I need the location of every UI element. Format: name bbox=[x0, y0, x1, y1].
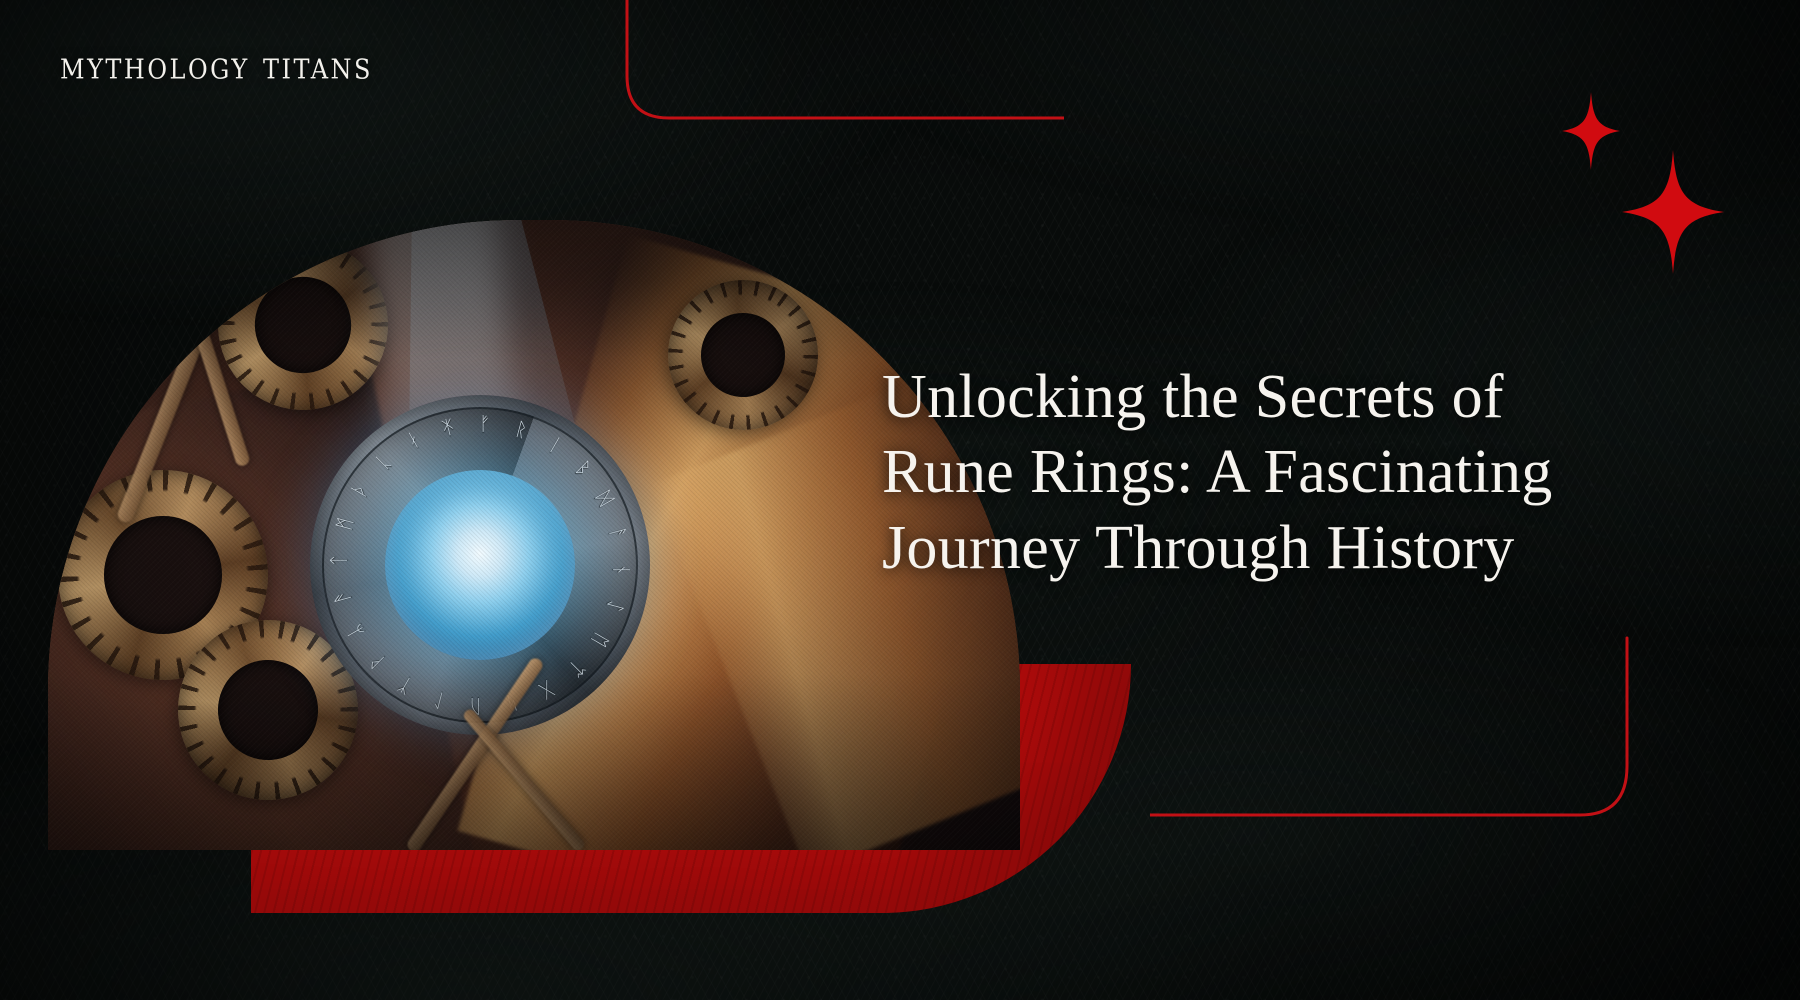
sparkle-icon-small bbox=[1562, 92, 1620, 170]
hero-grain bbox=[48, 220, 1020, 850]
title-line-2: Rune Rings: A Fascinating bbox=[882, 435, 1742, 511]
hero-banner: MYTHOLOGY TITANS bbox=[0, 0, 1800, 1000]
title-line-1: Unlocking the Secrets of bbox=[882, 360, 1742, 436]
hero-artwork: ᚠᚱᛁᛒᛞᚨᚾᛇᛖᛠᚷᛋᚢᛚᛉᚹᛦᚫᛏᛗᚦᚳᛅᛡ bbox=[48, 220, 1020, 850]
hero-image: ᚠᚱᛁᛒᛞᚨᚾᛇᛖᛠᚷᛋᚢᛚᛉᚹᛦᚫᛏᛗᚦᚳᛅᛡ bbox=[48, 220, 1020, 850]
brand-logo[interactable]: MYTHOLOGY TITANS bbox=[60, 44, 373, 89]
page-title: Unlocking the Secrets of Rune Rings: A F… bbox=[882, 360, 1742, 587]
title-line-3: Journey Through History bbox=[882, 511, 1742, 587]
sparkle-icon-large bbox=[1622, 150, 1724, 274]
